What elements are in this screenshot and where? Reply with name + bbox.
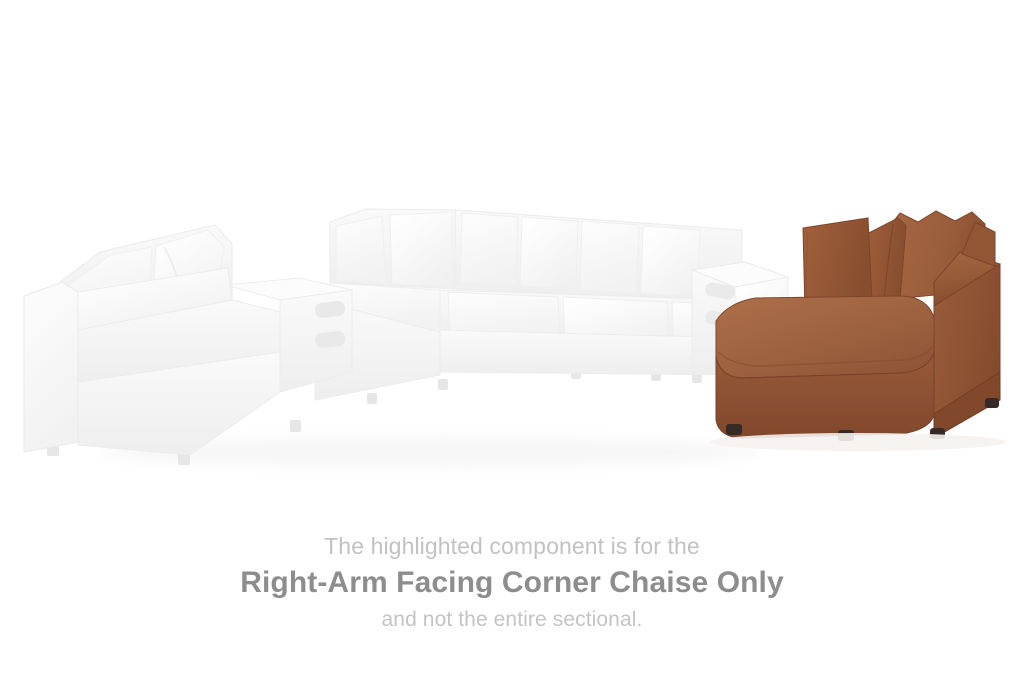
faded-loveseat-left-arm	[24, 282, 78, 452]
faded-back-cushion-2	[520, 217, 578, 289]
faded-sectional-group	[24, 209, 788, 470]
faded-back-cushion-3	[580, 221, 639, 293]
faded-corner-back-cushion-a	[336, 216, 386, 284]
faded-back-cushion-1	[460, 213, 518, 286]
highlighted-chaise-group	[716, 211, 1000, 441]
caption-line-top: The highlighted component is for the	[0, 531, 1024, 561]
caption-line-bottom: and not the entire sectional.	[0, 605, 1024, 635]
caption-line-main: Right-Arm Facing Corner Chaise Only	[0, 561, 1024, 605]
chaise-floor-shadow	[710, 433, 1006, 451]
faded-back-cushion-4	[641, 226, 700, 297]
faded-corner-back-cushion-b	[390, 212, 452, 287]
caption-block: The highlighted component is for the Rig…	[0, 531, 1024, 635]
